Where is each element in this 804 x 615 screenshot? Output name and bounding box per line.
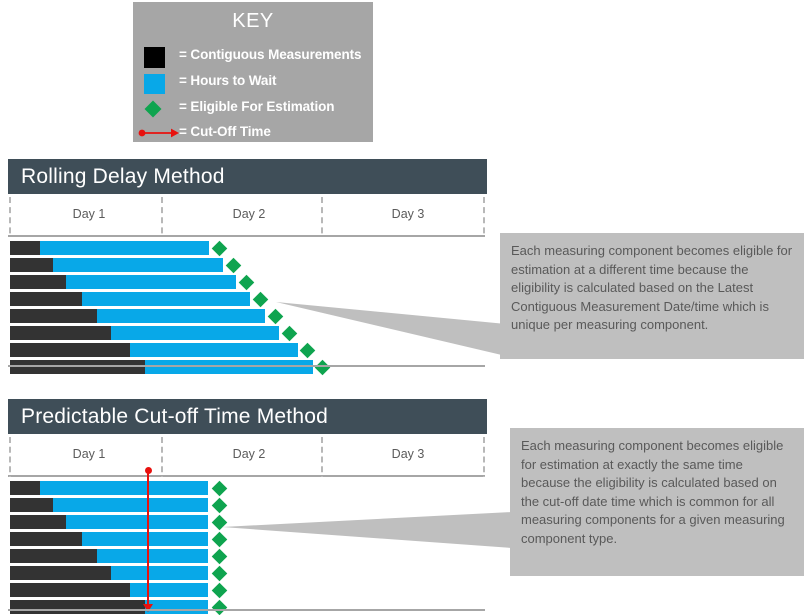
bar-segment-hours-to-wait — [130, 583, 208, 597]
bar-segment-contiguous — [10, 498, 53, 512]
key-item-contiguous-measurements: = Contiguous Measurements — [133, 46, 393, 68]
bar-row — [10, 600, 410, 614]
bar-segment-hours-to-wait — [66, 275, 236, 289]
bar-segment-hours-to-wait — [97, 549, 208, 563]
day-label: Day 1 — [9, 207, 169, 221]
key-item-eligible-for-estimation: = Eligible For Estimation — [133, 98, 393, 120]
bar-segment-contiguous — [10, 532, 82, 546]
day-label: Day 2 — [169, 207, 329, 221]
axis-baseline-rolling-delay — [8, 365, 485, 367]
callout-rolling-delay: Each measuring component becomes eligibl… — [500, 233, 804, 359]
cut-off-time-line — [147, 470, 149, 605]
bar-row — [10, 275, 410, 289]
callout-predictable-cut-off: Each measuring component becomes eligibl… — [510, 428, 804, 576]
bar-segment-hours-to-wait — [66, 515, 208, 529]
bar-row — [10, 360, 410, 374]
key-item-hours-to-wait: = Hours to Wait — [133, 72, 393, 94]
bar-row — [10, 241, 410, 255]
bar-segment-hours-to-wait — [111, 326, 279, 340]
bar-segment-hours-to-wait — [130, 343, 298, 357]
red-arrow-marker-icon — [138, 126, 182, 140]
bar-segment-hours-to-wait — [82, 532, 208, 546]
bar-segment-contiguous — [10, 600, 145, 614]
bar-segment-contiguous — [10, 292, 82, 306]
eligible-marker-icon — [212, 498, 228, 514]
bar-row — [10, 481, 410, 495]
key-item-cut-off-time: = Cut-Off Time — [133, 123, 393, 145]
bar-row — [10, 258, 410, 272]
green-diamond-marker-icon — [145, 101, 162, 118]
day-label: Day 3 — [328, 207, 488, 221]
key-item-label: = Hours to Wait — [179, 73, 276, 88]
callout-pointer-rolling-delay — [276, 296, 506, 358]
bar-segment-hours-to-wait — [40, 241, 209, 255]
bar-segment-hours-to-wait — [82, 292, 250, 306]
bar-segment-contiguous — [10, 326, 111, 340]
black-square-swatch-icon — [144, 47, 165, 68]
bar-row — [10, 583, 410, 597]
day-strip-rolling-delay: Day 1 Day 2 Day 3 — [8, 195, 487, 235]
bar-segment-contiguous — [10, 309, 97, 323]
bar-segment-contiguous — [10, 360, 145, 374]
key-title: KEY — [133, 10, 373, 33]
panel-header-predictable-cut-off: Predictable Cut-off Time Method — [8, 399, 487, 434]
bar-segment-contiguous — [10, 583, 130, 597]
panel-title: Predictable Cut-off Time Method — [21, 405, 328, 429]
eligible-marker-icon — [212, 583, 228, 599]
bar-segment-hours-to-wait — [40, 481, 208, 495]
blue-square-swatch-icon — [144, 74, 165, 94]
bar-segment-contiguous — [10, 343, 130, 357]
diagram-canvas: KEY = Contiguous Measurements = Hours to… — [0, 0, 804, 615]
eligible-marker-icon — [212, 600, 228, 615]
bar-segment-hours-to-wait — [53, 258, 223, 272]
day-strip-predictable-cut-off: Day 1 Day 2 Day 3 — [8, 435, 487, 475]
bar-segment-hours-to-wait — [145, 600, 208, 614]
eligible-marker-icon — [212, 481, 228, 497]
eligible-marker-icon — [226, 258, 242, 274]
day-label: Day 2 — [169, 447, 329, 461]
callout-pointer-predictable-cut-off — [222, 512, 512, 562]
key-item-label: = Contiguous Measurements — [179, 47, 361, 62]
bar-segment-contiguous — [10, 515, 66, 529]
key-item-label: = Cut-Off Time — [179, 124, 271, 139]
bar-segment-hours-to-wait — [145, 360, 313, 374]
bar-segment-hours-to-wait — [97, 309, 265, 323]
day-label: Day 1 — [9, 447, 169, 461]
bar-row — [10, 498, 410, 512]
bar-segment-contiguous — [10, 258, 53, 272]
day-label: Day 3 — [328, 447, 488, 461]
eligible-marker-icon — [212, 566, 228, 582]
axis-baseline-predictable-cut-off — [8, 609, 485, 611]
bar-segment-contiguous — [10, 566, 111, 580]
eligible-marker-icon — [253, 292, 269, 308]
bar-segment-contiguous — [10, 481, 40, 495]
eligible-marker-icon — [315, 360, 331, 376]
panel-title: Rolling Delay Method — [21, 165, 225, 189]
bar-segment-hours-to-wait — [111, 566, 208, 580]
bar-segment-contiguous — [10, 241, 40, 255]
key-item-label: = Eligible For Estimation — [179, 99, 334, 114]
panel-header-rolling-delay: Rolling Delay Method — [8, 159, 487, 194]
eligible-marker-icon — [239, 275, 255, 291]
key-legend-box: KEY = Contiguous Measurements = Hours to… — [133, 2, 373, 142]
bar-segment-hours-to-wait — [53, 498, 208, 512]
bar-row — [10, 566, 410, 580]
bar-segment-contiguous — [10, 275, 66, 289]
eligible-marker-icon — [212, 241, 228, 257]
bar-segment-contiguous — [10, 549, 97, 563]
